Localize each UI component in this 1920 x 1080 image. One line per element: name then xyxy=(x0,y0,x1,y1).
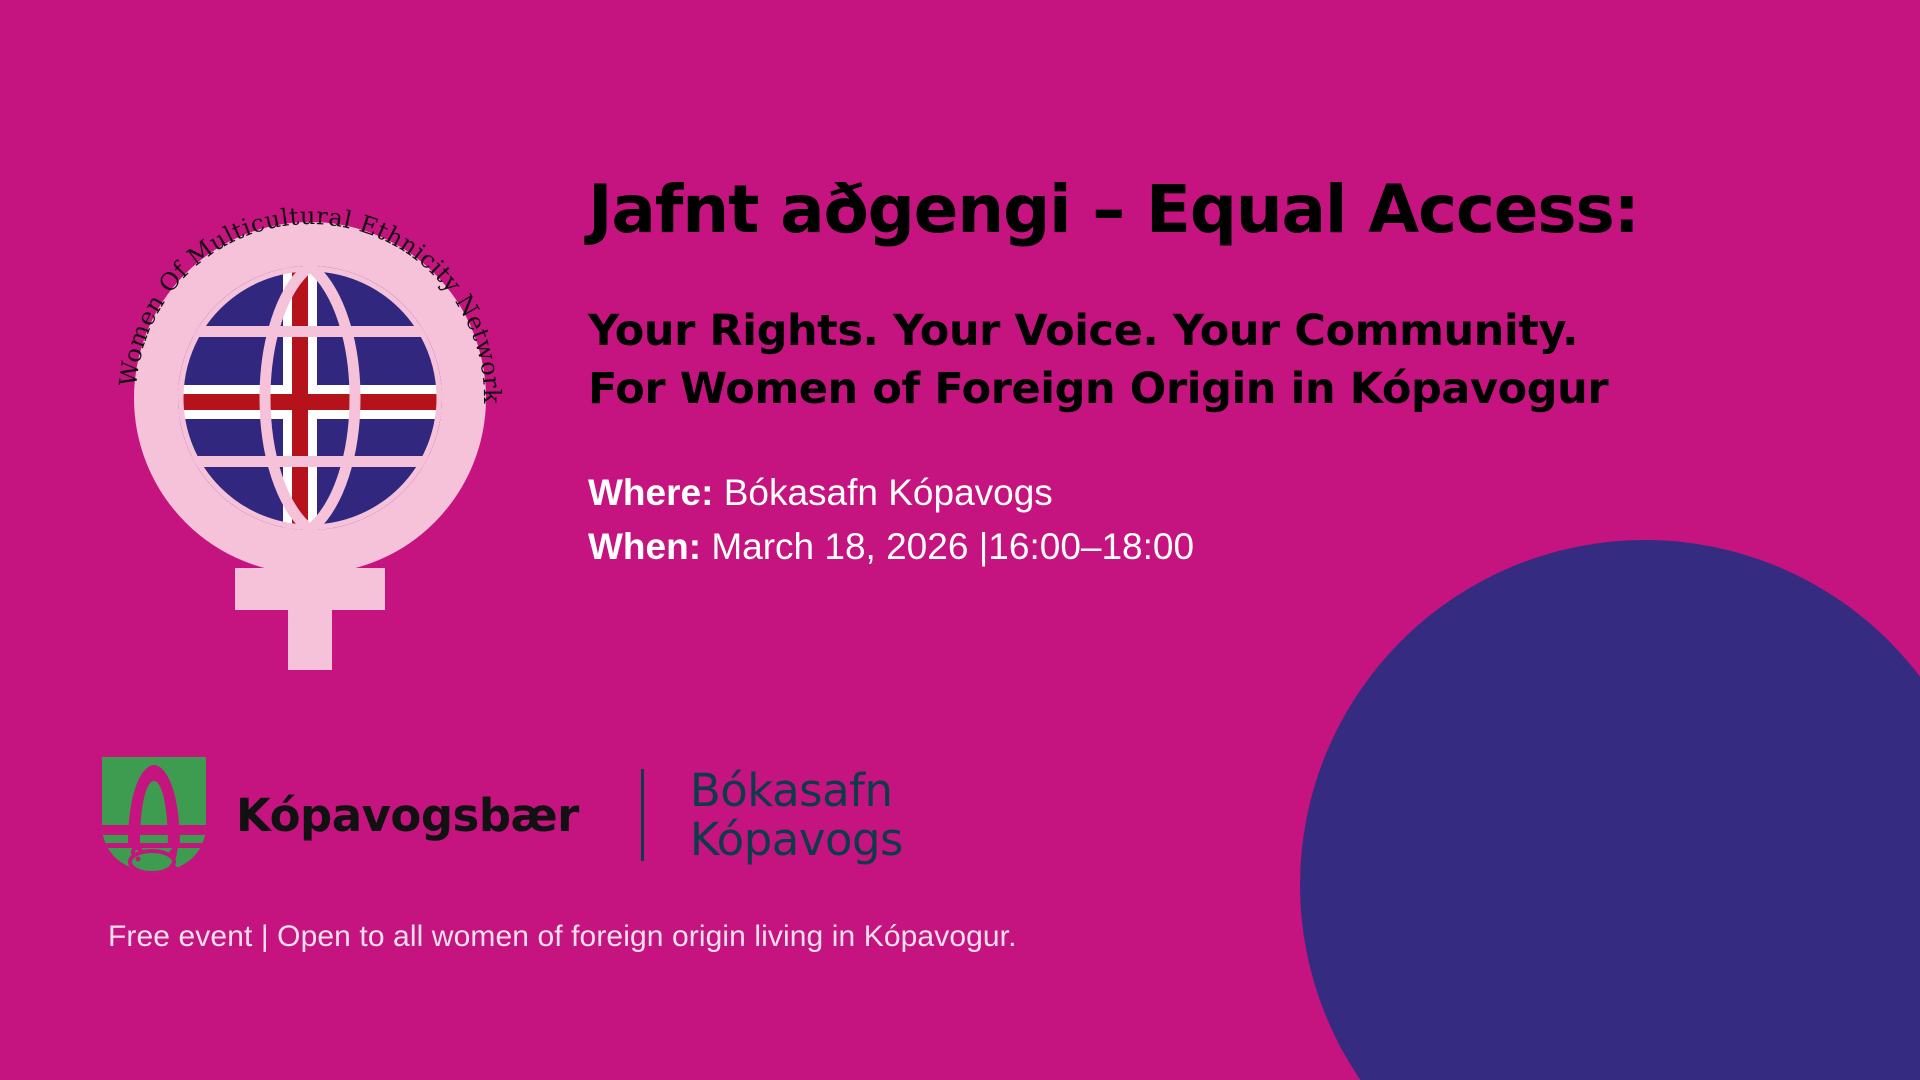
partner-logos: Kópavogsbær Bókasafn Kópavogs xyxy=(100,755,903,875)
library-wordmark: Bókasafn Kópavogs xyxy=(690,766,903,865)
organization-logo: Women Of Multicultural Ethnicity Network… xyxy=(100,140,520,670)
event-poster: Women Of Multicultural Ethnicity Network… xyxy=(0,0,1920,1080)
footer-note: Free event | Open to all women of foreig… xyxy=(108,920,1017,954)
page-title: Jafnt aðgengi – Equal Access: xyxy=(588,175,1838,244)
navy-circle-decoration xyxy=(1300,540,1920,1080)
event-location-row: Where: Bókasafn Kópavogs xyxy=(588,466,1838,520)
venus-globe-icon: Women Of Multicultural Ethnicity Network… xyxy=(100,140,520,670)
kopavogsbaer-wordmark: Kópavogsbær xyxy=(236,789,579,842)
library-line-1: Bókasafn xyxy=(690,766,903,816)
poster-subtitle: Your Rights. Your Voice. Your Community.… xyxy=(588,302,1838,418)
where-value: Bókasafn Kópavogs xyxy=(724,472,1053,513)
kopavogsbaer-crest-icon xyxy=(100,755,208,875)
event-datetime-row: When: March 18, 2026 |16:00–18:00 xyxy=(588,520,1838,574)
subtitle-line-1: Your Rights. Your Voice. Your Community. xyxy=(588,302,1838,360)
subtitle-line-2: For Women of Foreign Origin in Kópavogur xyxy=(588,360,1838,418)
when-label: When: xyxy=(588,526,701,567)
logo-divider xyxy=(641,769,644,861)
poster-content: Jafnt aðgengi – Equal Access: Your Right… xyxy=(588,175,1838,574)
when-value: March 18, 2026 |16:00–18:00 xyxy=(711,526,1194,567)
event-details: Where: Bókasafn Kópavogs When: March 18,… xyxy=(588,466,1838,573)
library-line-2: Kópavogs xyxy=(690,815,903,865)
where-label: Where: xyxy=(588,472,713,513)
